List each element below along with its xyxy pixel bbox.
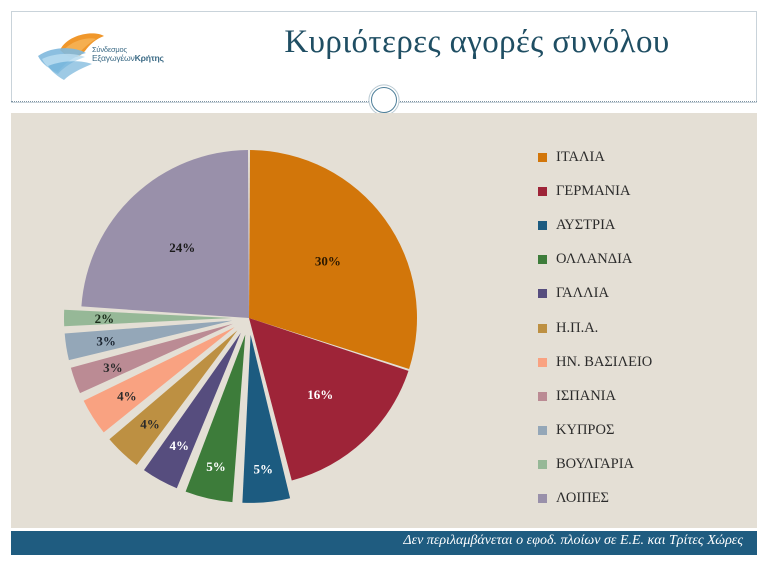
legend-swatch-icon [538, 426, 547, 435]
pie-slice[interactable] [81, 150, 249, 318]
page-title: Κυριότερες αγορές συνόλου [212, 24, 742, 61]
legend-item-label: ΒΟΥΛΓΑΡΙΑ [556, 456, 634, 473]
pie-slice-label: 4% [117, 389, 137, 404]
pie-chart-svg: 30%16%5%5%4%4%4%3%3%2%24% [11, 113, 531, 528]
pie-slice-label: 16% [307, 387, 333, 402]
legend-swatch-icon [538, 324, 547, 333]
legend-swatch-icon [538, 358, 547, 367]
legend-item[interactable]: ΓΕΡΜΑΝΙΑ [538, 174, 748, 208]
logo-line-2-bold: Κρήτης [135, 53, 164, 63]
legend-swatch-icon [538, 494, 547, 503]
legend-swatch-icon [538, 153, 547, 162]
divider-circle-ornament [371, 87, 397, 113]
legend-item-label: ΗΝ. ΒΑΣΙΛΕΙΟ [556, 354, 652, 371]
legend-item[interactable]: ΓΑΛΛΙΑ [538, 277, 748, 311]
legend-item-label: ΓΑΛΛΙΑ [556, 285, 609, 302]
legend-item-label: ΟΛΛΑΝΔΙΑ [556, 251, 632, 268]
pie-slice-label: 4% [170, 438, 190, 453]
legend-swatch-icon [538, 187, 547, 196]
legend-item-label: ΓΕΡΜΑΝΙΑ [556, 183, 630, 200]
slide-body: 30%16%5%5%4%4%4%3%3%2%24% ΙΤΑΛΙΑΓΕΡΜΑΝΙΑ… [11, 113, 757, 528]
legend-item-label: ΙΤΑΛΙΑ [556, 149, 605, 166]
legend-swatch-icon [538, 221, 547, 230]
pie-slice-label: 5% [206, 459, 226, 474]
slide: Σύνδεσμος ΕξαγωγέωνΚρήτης Κυριότερες αγο… [0, 0, 768, 564]
pie-slice-label: 24% [169, 240, 195, 255]
legend-item-label: ΚΥΠΡΟΣ [556, 422, 614, 439]
legend-item[interactable]: ΙΤΑΛΙΑ [538, 140, 748, 174]
legend-swatch-icon [538, 255, 547, 264]
chart-legend: ΙΤΑΛΙΑΓΕΡΜΑΝΙΑΑΥΣΤΡΙΑΟΛΛΑΝΔΙΑΓΑΛΛΙΑΗ.Π.Α… [538, 140, 748, 516]
legend-item[interactable]: ΚΥΠΡΟΣ [538, 414, 748, 448]
legend-swatch-icon [538, 460, 547, 469]
pie-slice-label: 30% [315, 254, 341, 269]
footer-bar: Δεν περιλαμβάνεται ο εφοδ. πλοίων σε Ε.Ε… [11, 531, 757, 555]
legend-item-label: ΑΥΣΤΡΙΑ [556, 217, 615, 234]
legend-item-label: Η.Π.Α. [556, 320, 598, 337]
pie-slice-label: 3% [96, 334, 116, 349]
logo-line-2: ΕξαγωγέωνΚρήτης [92, 54, 164, 63]
legend-item[interactable]: ΟΛΛΑΝΔΙΑ [538, 243, 748, 277]
pie-slice-label: 4% [140, 416, 160, 431]
pie-slice-label: 2% [95, 311, 115, 326]
legend-item-label: ΙΣΠΑΝΙΑ [556, 388, 616, 405]
logo-line-2-light: Εξαγωγέων [92, 53, 135, 63]
legend-item[interactable]: ΗΝ. ΒΑΣΙΛΕΙΟ [538, 345, 748, 379]
legend-item[interactable]: Η.Π.Α. [538, 311, 748, 345]
legend-item[interactable]: ΒΟΥΛΓΑΡΙΑ [538, 448, 748, 482]
legend-item[interactable]: ΙΣΠΑΝΙΑ [538, 379, 748, 413]
legend-item[interactable]: ΑΥΣΤΡΙΑ [538, 208, 748, 242]
footer-note: Δεν περιλαμβάνεται ο εφοδ. πλοίων σε Ε.Ε… [403, 533, 743, 549]
legend-item[interactable]: ΛΟΙΠΕΣ [538, 482, 748, 516]
legend-swatch-icon [538, 289, 547, 298]
pie-chart: 30%16%5%5%4%4%4%3%3%2%24% [11, 113, 531, 528]
legend-swatch-icon [538, 392, 547, 401]
pie-slice-label: 3% [103, 360, 123, 375]
legend-item-label: ΛΟΙΠΕΣ [556, 490, 609, 507]
logo-wordmark: Σύνδεσμος ΕξαγωγέωνΚρήτης [92, 46, 164, 62]
organization-logo: Σύνδεσμος ΕξαγωγέωνΚρήτης [30, 26, 200, 88]
pie-slice-label: 5% [254, 462, 274, 477]
